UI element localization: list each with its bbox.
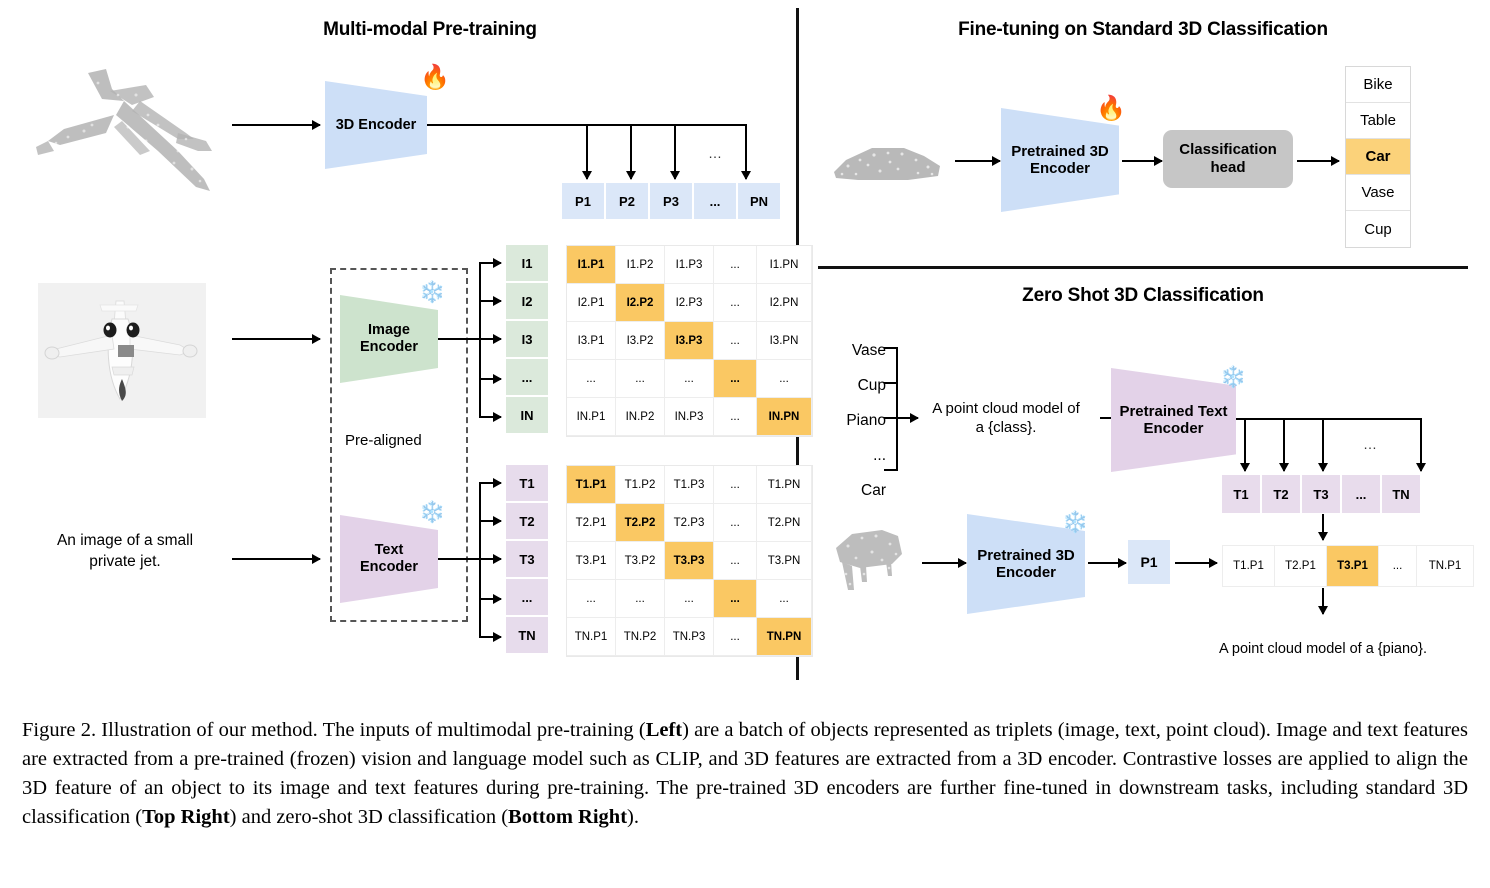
fire-icon-3d-encoder: 🔥 — [420, 66, 450, 90]
bottomright-panel-title: Zero Shot 3D Classification — [843, 285, 1443, 307]
piano-point-cloud — [826, 516, 916, 606]
zeroshot-similarity-row: T1.P1T2.P1T3.P1...TN.P1 — [1222, 545, 1474, 587]
arrow-to-t3-zs — [1322, 418, 1324, 471]
image-matrix-cell-3-3: ... — [714, 360, 757, 398]
image-matrix-row: IN.P1IN.P2IN.P3...IN.PN — [567, 398, 812, 436]
image-matrix-row: I1.P1I1.P2I1.P3...I1.PN — [567, 246, 812, 284]
text-matrix-row: T1.P1T1.P2T1.P3...T1.PN — [567, 466, 812, 504]
text-matrix-cell-4-3: ... — [714, 618, 757, 656]
image-matrix-cell-3-4: ... — [757, 360, 812, 398]
airplane-point-cloud — [28, 55, 228, 215]
zeroshot-class-names: VaseCupPiano...Car — [826, 333, 886, 508]
class-item-table[interactable]: Table — [1346, 103, 1410, 139]
text-matrix-cell-3-2: ... — [665, 580, 714, 618]
image-matrix-row: I3.P1I3.P2I3.P3...I3.PN — [567, 322, 812, 360]
figure-caption: Figure 2. Illustration of our method. Th… — [22, 716, 1468, 832]
snowflake-icon-text-encoder-zs: ❄️ — [1220, 367, 1246, 388]
arrow-pointcloud-to-3d-encoder — [232, 124, 320, 126]
image-matrix-cell-4-2: IN.P3 — [665, 398, 714, 436]
t-cell-zs-1: T2 — [1262, 475, 1302, 513]
class-item-vase[interactable]: Vase — [1346, 175, 1410, 211]
text-matrix-row: T3.P1T3.P2T3.P3...T3.PN — [567, 542, 812, 580]
text-matrix-cell-2-1: T3.P2 — [616, 542, 665, 580]
text-input-caption: An image of a small private jet. — [30, 531, 220, 573]
image-matrix-cell-2-4: I3.PN — [757, 322, 812, 360]
image-matrix-cell-4-3: ... — [714, 398, 757, 436]
encoder-text-label: Text Encoder — [360, 542, 418, 575]
pre-aligned-label: Pre-aligned — [345, 432, 422, 449]
text-matrix-cell-0-1: T1.P2 — [616, 466, 665, 504]
text-label-1: T2 — [506, 503, 548, 541]
caption-bold-left: Left — [646, 719, 682, 741]
arrow-to-p1 — [586, 124, 588, 179]
arrow-text-to-text-encoder — [232, 558, 320, 560]
image-matrix-cell-2-2: I3.P3 — [665, 322, 714, 360]
zeroshot-class-4: Car — [826, 473, 886, 508]
t-cell-zs-4: TN — [1382, 475, 1422, 513]
image-feature-labels: I1I2I3...IN — [506, 245, 548, 435]
fire-icon-finetune-encoder: 🔥 — [1096, 97, 1126, 121]
text-feature-labels: T1T2T3...TN — [506, 465, 548, 655]
class-bracket-tick-4 — [884, 469, 898, 471]
left-panel-title: Multi-modal Pre-training — [280, 19, 580, 41]
car-point-cloud — [828, 138, 948, 190]
text-matrix-cell-0-0: T1.P1 — [567, 466, 616, 504]
text-similarity-matrix: T1.P1T1.P2T1.P3...T1.PNT2.P1T2.P2T2.P3..… — [566, 465, 813, 657]
image-label-2: I3 — [506, 321, 548, 359]
image-label-4: IN — [506, 397, 548, 435]
p-cell-1: P2 — [606, 183, 650, 219]
text-matrix-cell-0-2: T1.P3 — [665, 466, 714, 504]
t-row-ellipsis-above: … — [1355, 436, 1385, 452]
class-item-cup[interactable]: Cup — [1346, 211, 1410, 247]
arrow-trow-to-simrow — [1322, 514, 1324, 540]
snowflake-icon-3d-encoder-zs: ❄️ — [1062, 512, 1088, 533]
image-matrix-row: ............... — [567, 360, 812, 398]
pretrained-text-encoder-label: Pretrained Text Encoder — [1119, 403, 1227, 438]
zeroshot-class-1: Cup — [826, 368, 886, 403]
encoder-3d[interactable]: 3D Encoder — [325, 81, 427, 169]
zeroshot-result: A point cloud model of a {piano}. — [1192, 640, 1454, 658]
caption-part4: ). — [627, 806, 639, 828]
p-cell-0: P1 — [562, 183, 606, 219]
encoder-image[interactable]: Image Encoder — [340, 295, 438, 383]
image-matrix-cell-2-0: I3.P1 — [567, 322, 616, 360]
arrow-to-i2 — [479, 300, 501, 302]
encoder-image-label: Image Encoder — [360, 322, 418, 355]
sim-cell-4: TN.P1 — [1417, 546, 1473, 586]
text-matrix-cell-4-1: TN.P2 — [616, 618, 665, 656]
image-matrix-cell-3-1: ... — [616, 360, 665, 398]
arrow-to-t2 — [479, 520, 501, 522]
image-matrix-cell-1-4: I2.PN — [757, 284, 812, 322]
text-matrix-cell-2-2: T3.P3 — [665, 542, 714, 580]
airplane-render-thumbnail — [38, 283, 206, 418]
t-cell-zs-2: T3 — [1302, 475, 1342, 513]
caption-part1: Figure 2. Illustration of our method. Th… — [22, 719, 646, 741]
image-matrix-cell-4-1: IN.P2 — [616, 398, 665, 436]
caption-bold-bottomright: Bottom Right — [508, 806, 627, 828]
image-matrix-cell-0-3: ... — [714, 246, 757, 284]
p-cell-3: ... — [694, 183, 738, 219]
class-bracket-tick-2 — [884, 382, 898, 384]
snowflake-icon-image-encoder: ❄️ — [419, 282, 445, 303]
pretrained-3d-encoder-finetune[interactable]: Pretrained 3D Encoder — [1001, 108, 1119, 212]
snowflake-icon-text-encoder: ❄️ — [419, 502, 445, 523]
arrow-to-p3 — [674, 124, 676, 179]
arrow-simrow-to-result — [1322, 588, 1324, 614]
image-matrix-cell-3-0: ... — [567, 360, 616, 398]
text-label-2: T3 — [506, 541, 548, 579]
text-matrix-cell-2-3: ... — [714, 542, 757, 580]
sim-cell-3: ... — [1379, 546, 1417, 586]
p-feature-row: P1P2P3...PN — [562, 183, 782, 219]
class-bracket-tick-1 — [884, 347, 898, 349]
topright-panel-title: Fine-tuning on Standard 3D Classificatio… — [843, 19, 1443, 41]
image-similarity-matrix: I1.P1I1.P2I1.P3...I1.PNI2.P1I2.P2I2.P3..… — [566, 245, 813, 437]
text-matrix-row: TN.P1TN.P2TN.P3...TN.PN — [567, 618, 812, 656]
image-matrix-cell-0-1: I1.P2 — [616, 246, 665, 284]
arrow-to-tn — [479, 636, 501, 638]
zeroshot-class-3: ... — [826, 438, 886, 473]
arrow-to-t3 — [479, 558, 501, 560]
sim-cell-2: T3.P1 — [1327, 546, 1379, 586]
image-label-0: I1 — [506, 245, 548, 283]
arrow-to-t-ellipsis — [479, 598, 501, 600]
text-matrix-cell-1-0: T2.P1 — [567, 504, 616, 542]
arrow-to-i-ellipsis — [479, 378, 501, 380]
image-matrix-cell-1-1: I2.P2 — [616, 284, 665, 322]
text-matrix-cell-2-4: T3.PN — [757, 542, 812, 580]
image-matrix-cell-0-0: I1.P1 — [567, 246, 616, 284]
text-matrix-cell-2-0: T3.P1 — [567, 542, 616, 580]
text-label-0: T1 — [506, 465, 548, 503]
zeroshot-class-2: Piano — [826, 403, 886, 438]
p-cell-2: P3 — [650, 183, 694, 219]
p1-feature-box: P1 — [1128, 540, 1170, 584]
p1-feature-label: P1 — [1140, 554, 1157, 570]
text-matrix-row: ............... — [567, 580, 812, 618]
image-matrix-cell-4-0: IN.P1 — [567, 398, 616, 436]
pretrained-3d-encoder-finetune-label: Pretrained 3D Encoder — [1011, 143, 1109, 178]
class-item-car[interactable]: Car — [1346, 139, 1410, 175]
line-image-encoder-out — [438, 338, 480, 340]
text-matrix-cell-1-3: ... — [714, 504, 757, 542]
caption-bold-topright: Top Right — [142, 806, 230, 828]
line-text-encoder-out — [438, 558, 480, 560]
p-row-ellipsis-above: … — [700, 145, 730, 161]
figure-root: Multi-modal Pre-training Fine-tuning on … — [0, 0, 1490, 888]
text-matrix-cell-3-0: ... — [567, 580, 616, 618]
class-item-bike[interactable]: Bike — [1346, 67, 1410, 103]
pretrained-text-encoder[interactable]: Pretrained Text Encoder — [1111, 368, 1236, 472]
horizontal-divider — [818, 266, 1468, 269]
caption-part3: ) and zero-shot 3D classification ( — [230, 806, 508, 828]
arrow-to-in — [479, 416, 501, 418]
text-matrix-cell-1-1: T2.P2 — [616, 504, 665, 542]
arrow-image-to-image-encoder — [232, 338, 320, 340]
p-cell-4: PN — [738, 183, 782, 219]
image-matrix-cell-1-2: I2.P3 — [665, 284, 714, 322]
line-text-encoder-zs-out — [1236, 418, 1422, 420]
prompt-template: A point cloud model of a {class}. — [915, 400, 1097, 438]
arrow-encoder-to-p1 — [1088, 562, 1126, 564]
text-matrix-cell-3-3: ... — [714, 580, 757, 618]
classification-head-label: Classification head — [1179, 141, 1277, 177]
image-matrix-cell-0-4: I1.PN — [757, 246, 812, 284]
arrow-car-to-encoder — [955, 160, 1000, 162]
encoder-3d-label: 3D Encoder — [336, 117, 417, 134]
image-matrix-cell-0-2: I1.P3 — [665, 246, 714, 284]
image-matrix-cell-2-3: ... — [714, 322, 757, 360]
image-matrix-cell-1-0: I2.P1 — [567, 284, 616, 322]
arrow-to-t1 — [479, 482, 501, 484]
image-matrix-row: I2.P1I2.P2I2.P3...I2.PN — [567, 284, 812, 322]
arrow-to-t2-zs — [1283, 418, 1285, 471]
text-label-4: TN — [506, 617, 548, 655]
text-matrix-cell-3-4: ... — [757, 580, 812, 618]
text-matrix-cell-1-2: T2.P3 — [665, 504, 714, 542]
text-matrix-cell-4-0: TN.P1 — [567, 618, 616, 656]
arrow-to-i3 — [479, 338, 501, 340]
zeroshot-class-0: Vase — [826, 333, 886, 368]
arrow-to-i1 — [479, 262, 501, 264]
arrow-head-to-classlist — [1297, 160, 1339, 162]
image-label-1: I2 — [506, 283, 548, 321]
class-list[interactable]: BikeTableCarVaseCup — [1345, 66, 1411, 248]
text-matrix-cell-3-1: ... — [616, 580, 665, 618]
class-bracket-vertical — [896, 347, 898, 471]
image-matrix-cell-2-1: I3.P2 — [616, 322, 665, 360]
text-matrix-cell-4-4: TN.PN — [757, 618, 812, 656]
text-matrix-row: T2.P1T2.P2T2.P3...T2.PN — [567, 504, 812, 542]
arrow-to-t1-zs — [1244, 418, 1246, 471]
t-cell-zs-0: T1 — [1222, 475, 1262, 513]
arrow-to-tn-zs — [1420, 418, 1422, 471]
text-label-3: ... — [506, 579, 548, 617]
classification-head[interactable]: Classification head — [1163, 130, 1293, 188]
text-matrix-cell-1-4: T2.PN — [757, 504, 812, 542]
text-matrix-cell-4-2: TN.P3 — [665, 618, 714, 656]
sim-cell-1: T2.P1 — [1275, 546, 1327, 586]
sim-cell-0: T1.P1 — [1223, 546, 1275, 586]
text-matrix-cell-0-3: ... — [714, 466, 757, 504]
image-label-3: ... — [506, 359, 548, 397]
arrow-to-pn — [745, 124, 747, 179]
arrow-to-p2 — [630, 124, 632, 179]
arrow-p1-to-simrow — [1175, 562, 1217, 564]
t-cell-zs-3: ... — [1342, 475, 1382, 513]
t-feature-row-zeroshot: T1T2T3...TN — [1222, 475, 1422, 513]
arrow-encoder-to-head — [1122, 160, 1162, 162]
encoder-text[interactable]: Text Encoder — [340, 515, 438, 603]
arrow-piano-to-encoder — [922, 562, 966, 564]
image-matrix-cell-4-4: IN.PN — [757, 398, 812, 436]
image-matrix-cell-3-2: ... — [665, 360, 714, 398]
pretrained-3d-encoder-zeroshot-label: Pretrained 3D Encoder — [977, 547, 1075, 582]
text-matrix-cell-0-4: T1.PN — [757, 466, 812, 504]
image-matrix-cell-1-3: ... — [714, 284, 757, 322]
